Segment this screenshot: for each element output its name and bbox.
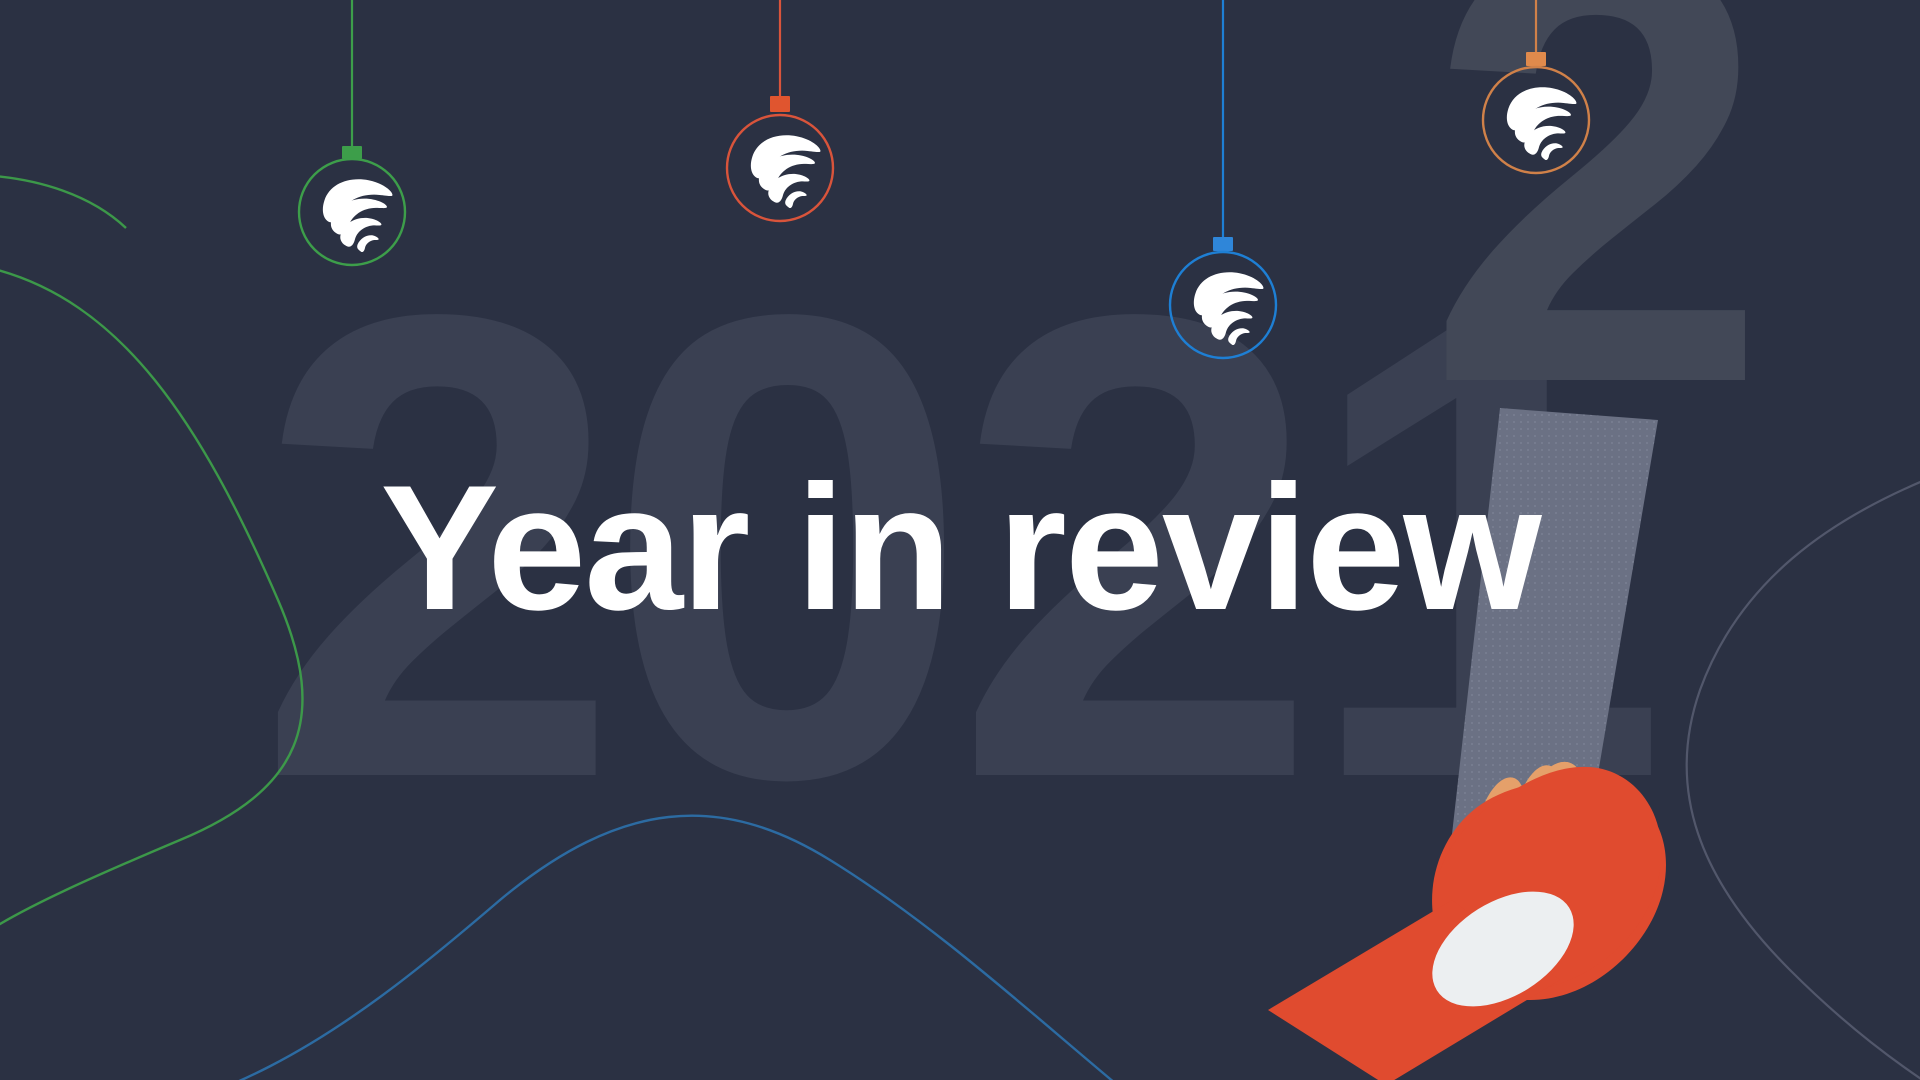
syncfusion-logo-icon: [1507, 87, 1577, 160]
ornament-cap: [770, 96, 790, 112]
ornament-cap: [342, 146, 362, 159]
syncfusion-logo-icon: [751, 135, 821, 208]
ornament-red[interactable]: [727, 0, 833, 221]
ornament-green[interactable]: [299, 0, 405, 265]
ornament-cap: [1213, 237, 1233, 251]
ornaments-layer: [0, 0, 1920, 1080]
ornament-cap: [1526, 52, 1546, 66]
ornament-blue[interactable]: [1170, 0, 1276, 358]
syncfusion-logo-icon: [1194, 272, 1264, 345]
syncfusion-logo-icon: [323, 179, 393, 252]
year-in-review-hero: 2021 2: [0, 0, 1920, 1080]
ornament-orange[interactable]: [1483, 0, 1589, 173]
